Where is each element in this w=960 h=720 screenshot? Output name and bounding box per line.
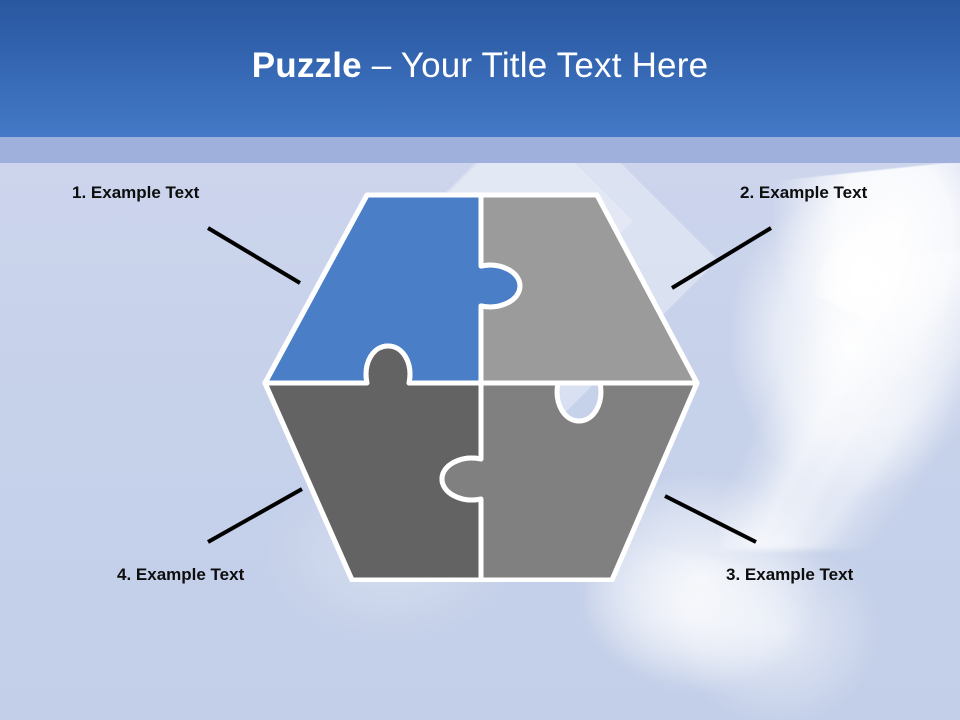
- page-title: Puzzle – Your Title Text Here: [0, 44, 960, 88]
- callout-label-1[interactable]: 1. Example Text: [72, 183, 199, 203]
- header-accent-band: [0, 137, 960, 163]
- puzzle-diagram: [252, 182, 712, 582]
- puzzle-piece-bottom-right[interactable]: [442, 383, 697, 580]
- page-title-bold: Puzzle: [252, 46, 362, 85]
- puzzle-svg: [252, 182, 712, 582]
- slide-canvas: Puzzle – Your Title Text Here 1. Example…: [0, 0, 960, 720]
- callout-label-2[interactable]: 2. Example Text: [740, 183, 867, 203]
- callout-label-3[interactable]: 3. Example Text: [726, 565, 853, 585]
- callout-label-4[interactable]: 4. Example Text: [117, 565, 244, 585]
- page-title-rest: – Your Title Text Here: [362, 46, 708, 85]
